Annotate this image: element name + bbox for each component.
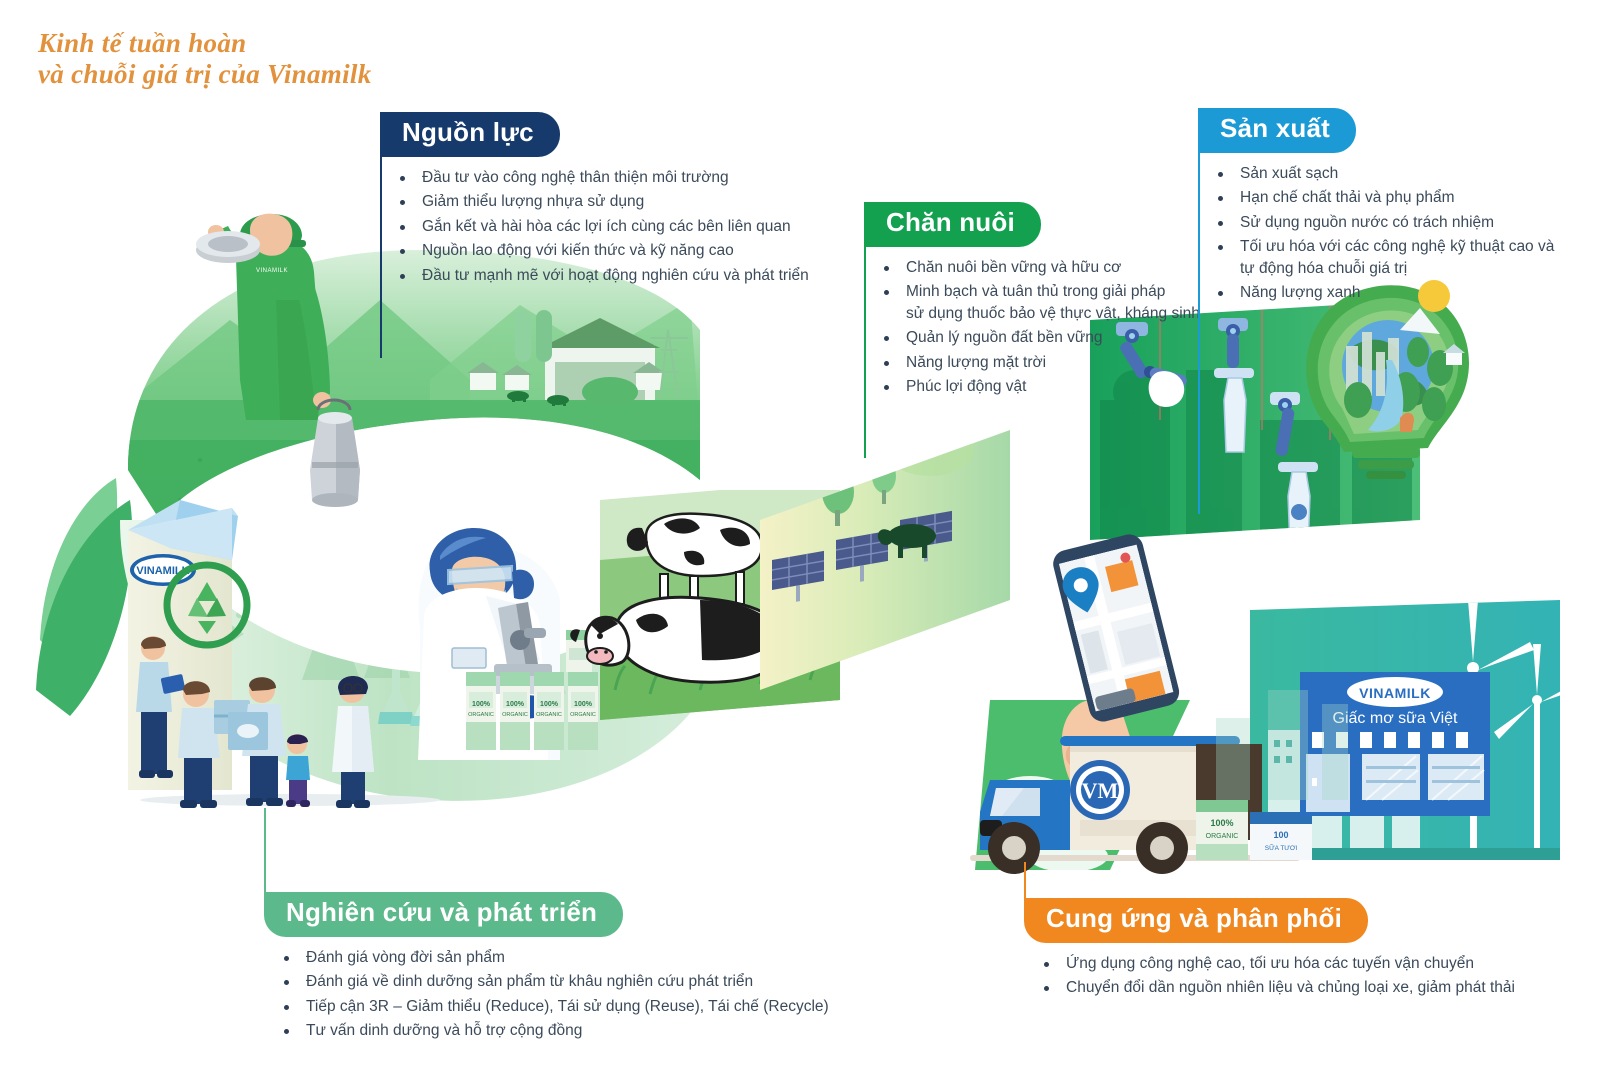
svg-text:100%: 100% [1210,818,1233,828]
shoulder-milk-can [196,231,260,263]
connector-stem-nguon-luc [380,118,382,358]
bullet-item: Đầu tư mạnh mẽ với hoạt động nghiên cứu … [392,265,809,288]
svg-text:100%: 100% [574,701,593,708]
section-chan-nuoi: Chăn nuôi Chăn nuôi bền vững và hữu cơ M… [862,202,1200,401]
svg-text:ORGANIC: ORGANIC [468,712,494,718]
svg-text:100: 100 [1273,830,1288,840]
bullet-item: Nguồn lao động với kiến thức và kỹ năng … [392,240,809,263]
solar-farm-scene [750,420,1030,710]
bullet-item: Sản xuất sạch [1210,163,1554,186]
bullet-item: Tối ưu hóa với các công nghệ kỹ thuật ca… [1210,236,1554,259]
bullet-item: Chuyển đổi dần nguồn nhiên liệu và chủng… [1036,977,1515,1000]
page-title: Kinh tế tuần hoàn và chuỗi giá trị của V… [38,28,638,90]
bullet-item: Gắn kết và hài hòa các lợi ích cùng các … [392,216,809,239]
store-brand-text: VINAMILK [1359,685,1431,701]
title-line-2: và chuỗi giá trị của Vinamilk [38,59,638,90]
bullet-item: Năng lượng xanh [1210,282,1554,305]
svg-text:ORGANIC: ORGANIC [1206,833,1239,840]
leaf-decoration [36,478,132,716]
section-nguon-luc: Nguồn lực Đầu tư vào công nghệ thân thiệ… [378,112,809,289]
connector-stem-nghien-cuu [264,808,266,892]
bullet-item: Phúc lợi động vật [876,376,1200,399]
svg-text:100%: 100% [506,701,525,708]
bullet-item: Hạn chế chất thải và phụ phẩm [1210,187,1554,210]
section-badge-nguon-luc[interactable]: Nguồn lực [380,112,560,157]
svg-text:100%: 100% [472,701,491,708]
connector-stem-cung-ung [1024,862,1026,898]
connector-stem-san-xuat [1198,114,1200,514]
bullet-item: Ứng dụng công nghệ cao, tối ưu hóa các t… [1036,953,1515,976]
truck-logo-text: VM [1082,778,1119,803]
section-nghien-cuu-phat-trien: Nghiên cứu và phát triển Đánh giá vòng đ… [262,808,829,1045]
bullet-item: Tiếp cận 3R – Giảm thiểu (Reduce), Tái s… [276,996,829,1019]
section-badge-nghien-cuu-phat-trien[interactable]: Nghiên cứu và phát triển [264,892,623,937]
title-line-1: Kinh tế tuần hoàn [38,28,638,59]
svg-text:SỮA TƯƠI: SỮA TƯƠI [1265,843,1298,852]
child-figure [286,734,310,807]
bullet-list-chan-nuoi: Chăn nuôi bền vững và hữu cơ Minh bạch v… [862,257,1200,399]
svg-text:100%: 100% [540,701,559,708]
bullet-item: Minh bạch và tuân thủ trong giải pháp [876,281,1200,304]
bullet-list-nguon-luc: Đầu tư vào công nghệ thân thiện môi trườ… [378,167,809,288]
bullet-item-continuation: tự động hóa chuỗi giá trị [1210,258,1554,281]
bullet-item: Giảm thiểu lượng nhựa sử dụng [392,191,809,214]
svg-text:ORGANIC: ORGANIC [570,712,596,718]
connector-stem-chan-nuoi [864,208,866,458]
bullet-item: Sử dụng nguồn nước có trách nhiệm [1210,212,1554,235]
section-badge-cung-ung-phan-phoi[interactable]: Cung ứng và phân phối [1024,898,1368,943]
section-badge-san-xuat[interactable]: Sản xuất [1198,108,1356,153]
store-slogan-text: Giấc mơ sữa Việt [1333,710,1459,727]
section-san-xuat: Sản xuất Sản xuất sạch Hạn chế chất thải… [1196,108,1554,307]
uniform-brand-text: VINAMILK [256,268,288,274]
bullet-item: Chăn nuôi bền vững và hữu cơ [876,257,1200,280]
bullet-item-continuation: sử dụng thuốc bảo vệ thực vật, kháng sin… [876,303,1200,326]
bullet-list-cung-ung: Ứng dụng công nghệ cao, tối ưu hóa các t… [1022,953,1515,1000]
bullet-list-san-xuat: Sản xuất sạch Hạn chế chất thải và phụ p… [1196,163,1554,305]
svg-text:ORGANIC: ORGANIC [502,712,528,718]
bullet-item: Năng lượng mặt trời [876,352,1200,375]
section-badge-chan-nuoi[interactable]: Chăn nuôi [864,202,1041,247]
svg-text:ORGANIC: ORGANIC [536,712,562,718]
bullet-item: Tư vấn dinh dưỡng và hỗ trợ cộng đồng [276,1020,829,1043]
bullet-item: Đánh giá vòng đời sản phẩm [276,947,829,970]
bullet-list-nghien-cuu: Đánh giá vòng đời sản phẩm Đánh giá về d… [262,947,829,1043]
bullet-item: Quản lý nguồn đất bền vững [876,327,1200,350]
bullet-item: Đầu tư vào công nghệ thân thiện môi trườ… [392,167,809,190]
section-cung-ung-phan-phoi: Cung ứng và phân phối Ứng dụng công nghệ… [1022,862,1515,1002]
bullet-item: Đánh giá về dinh dưỡng sản phẩm từ khâu … [276,971,829,994]
background-cityscape [1216,690,1348,800]
